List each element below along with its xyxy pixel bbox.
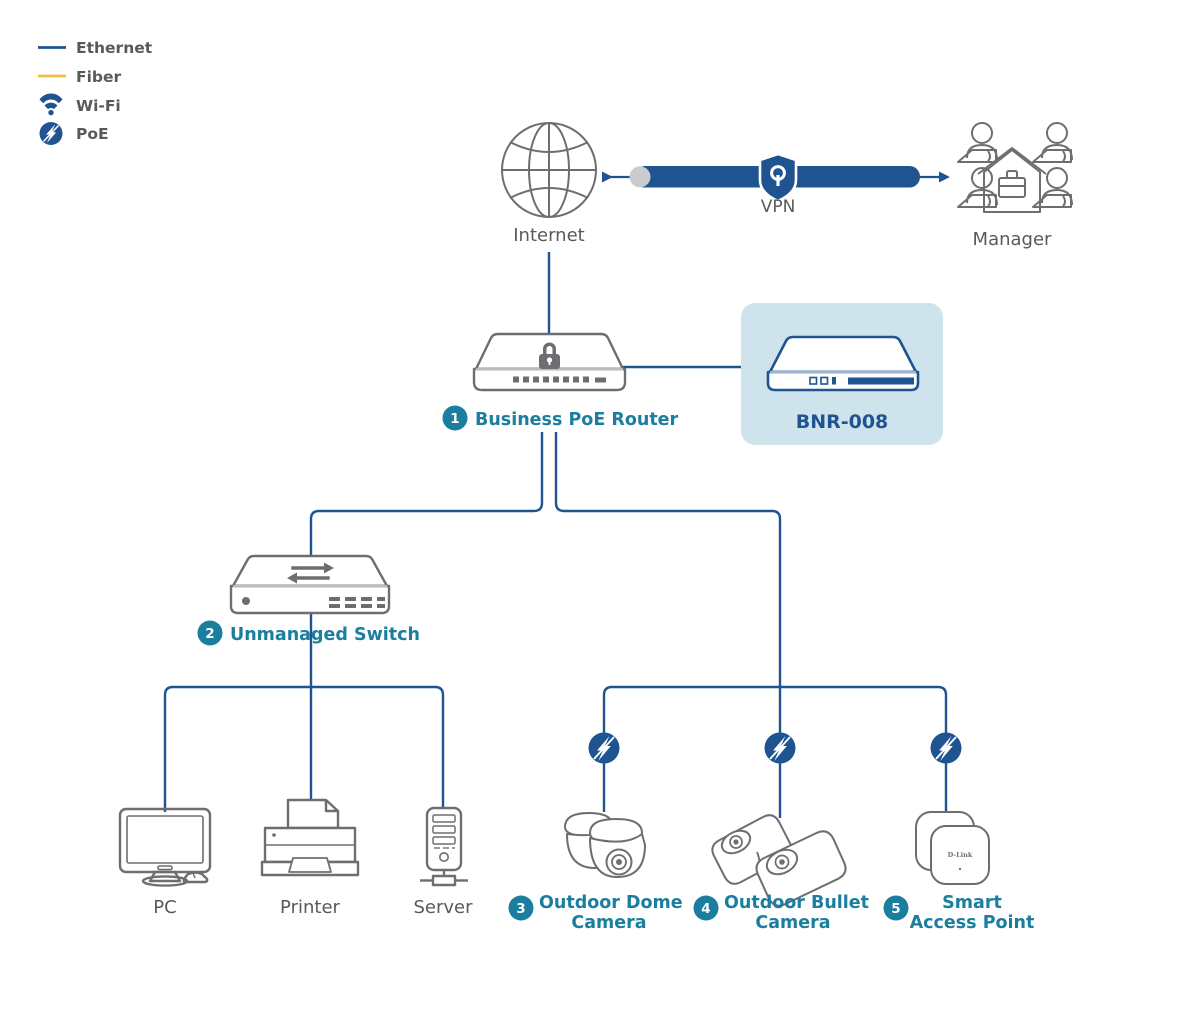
legend-item-label: Wi-Fi — [76, 97, 121, 115]
badge-number: 1 — [450, 411, 459, 427]
legend-item-poe: PoE — [40, 122, 109, 145]
badge-number: 5 — [891, 901, 900, 917]
shield-lock-icon — [760, 154, 796, 201]
access-point-icon: D-Link D-Link — [916, 812, 989, 884]
node-dome-camera-label-line1: Outdoor Dome — [539, 893, 683, 913]
poe-marker-bullet — [765, 733, 796, 764]
callout-bnr008[interactable]: BNR-008 — [741, 303, 943, 445]
switch-icon — [231, 556, 389, 613]
badge-dome-camera: 3 — [509, 896, 534, 921]
node-pc-label: PC — [153, 897, 176, 918]
poe-markers — [589, 733, 962, 764]
node-bullet-camera-label-line2: Camera — [755, 913, 830, 933]
node-internet-label: Internet — [513, 225, 584, 246]
node-printer-label: Printer — [280, 897, 340, 918]
legend-item-ethernet: Ethernet — [38, 39, 153, 57]
link-poe-bus-dome — [604, 687, 780, 733]
badge-number: 4 — [701, 901, 710, 917]
link-lan-bus-server — [311, 687, 443, 808]
badge-access-point: 5 — [884, 896, 909, 921]
desktop-pc-icon — [120, 809, 210, 886]
legend-item-wifi: Wi-Fi — [40, 93, 121, 115]
badge-bullet-camera: 4 — [694, 896, 719, 921]
node-pc[interactable]: PC — [120, 809, 210, 918]
poe-marker-dome — [589, 733, 620, 764]
network-topology-diagram: Ethernet Fiber Wi-Fi PoE — [0, 0, 1200, 1034]
node-bullet-camera[interactable]: 4 Outdoor Bullet Camera — [694, 814, 870, 933]
manager-team-icon — [958, 123, 1072, 212]
legend: Ethernet Fiber Wi-Fi PoE — [38, 39, 153, 145]
node-manager[interactable]: Manager — [958, 123, 1072, 250]
callout-model-label: BNR-008 — [796, 411, 889, 433]
legend-item-label: PoE — [76, 125, 109, 143]
node-server-label: Server — [413, 897, 473, 918]
node-printer[interactable]: Printer — [262, 800, 358, 918]
link-router-switch — [311, 432, 542, 556]
globe-icon — [502, 123, 596, 217]
wifi-icon — [40, 93, 63, 115]
link-lan-bus-pc — [165, 687, 311, 812]
brand-mark-front: D-Link — [948, 851, 973, 859]
node-access-point-label-line1: Smart — [942, 893, 1002, 913]
poe-router-icon — [474, 334, 625, 390]
node-dome-camera[interactable]: 3 Outdoor Dome Camera — [509, 813, 683, 933]
node-manager-label: Manager — [973, 229, 1052, 250]
badge-number: 3 — [516, 901, 525, 917]
poe-bolt-icon — [40, 122, 63, 145]
node-access-point[interactable]: D-Link D-Link 5 Smart Access Point — [884, 812, 1035, 933]
node-router[interactable]: 1 Business PoE Router — [443, 334, 679, 431]
link-router-poe-bus — [556, 432, 780, 687]
node-server[interactable]: Server — [413, 808, 473, 918]
node-router-label: Business PoE Router — [475, 410, 679, 430]
vpn-tunnel[interactable]: VPN — [603, 154, 940, 217]
node-access-point-label-line2: Access Point — [910, 913, 1035, 933]
legend-item-label: Fiber — [76, 68, 122, 86]
badge-switch: 2 — [198, 621, 223, 646]
node-switch[interactable]: 2 Unmanaged Switch — [198, 556, 420, 646]
node-bullet-camera-label-line1: Outdoor Bullet — [724, 893, 869, 913]
router-product-icon — [768, 337, 918, 390]
printer-icon — [262, 800, 358, 875]
vpn-endpoint-dot — [630, 166, 651, 187]
badge-router: 1 — [443, 406, 468, 431]
server-tower-icon — [420, 808, 468, 885]
node-internet[interactable]: Internet — [502, 123, 596, 246]
badge-number: 2 — [205, 626, 214, 642]
legend-item-label: Ethernet — [76, 39, 153, 57]
dome-camera-icon — [565, 813, 645, 877]
poe-marker-ap — [931, 733, 962, 764]
node-dome-camera-label-line2: Camera — [571, 913, 646, 933]
vpn-label: VPN — [761, 197, 796, 217]
node-switch-label: Unmanaged Switch — [230, 625, 420, 645]
link-poe-bus-ap — [780, 687, 946, 733]
legend-item-fiber: Fiber — [38, 68, 122, 86]
